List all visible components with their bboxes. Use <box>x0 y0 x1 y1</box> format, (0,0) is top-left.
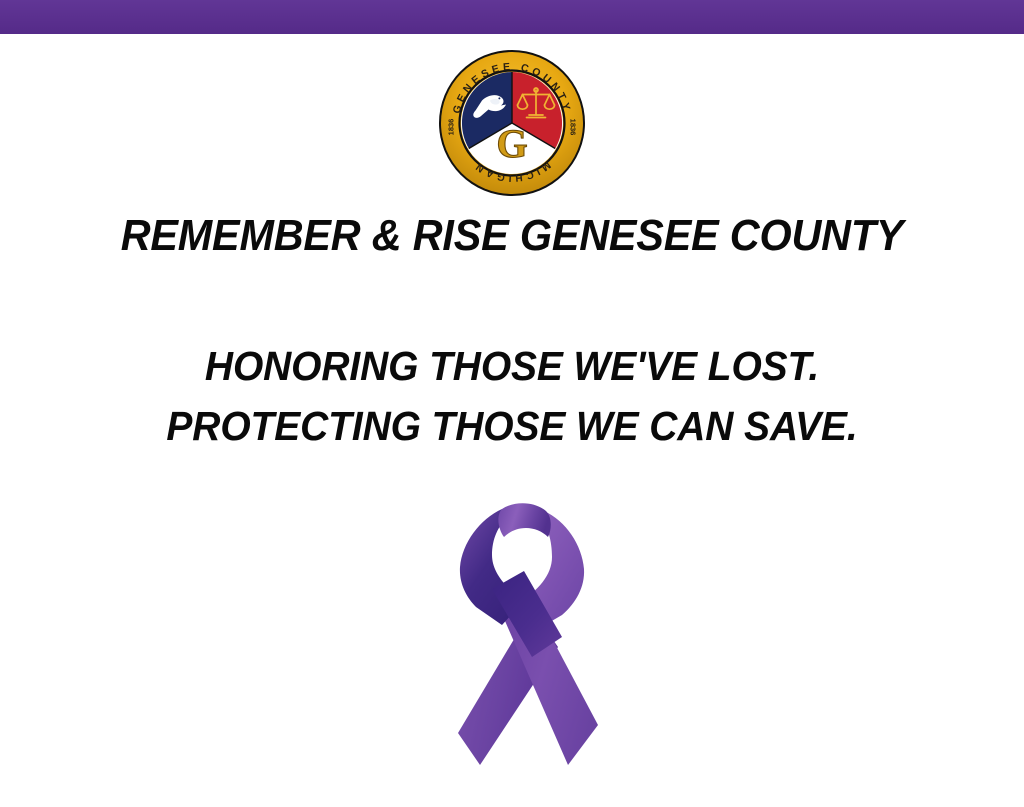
purple-awareness-ribbon <box>440 497 616 779</box>
genesee-county-seal: G GENESEE COUNTY MICHIGAN 1836 1836 <box>437 48 587 198</box>
seal-monogram-g: G <box>496 121 527 166</box>
poster-canvas: G GENESEE COUNTY MICHIGAN 1836 1836 REME… <box>0 0 1024 807</box>
seal-year-right: 1836 <box>569 119 578 136</box>
subtitle-line-1: HONORING THOSE WE'VE LOST. <box>26 345 999 388</box>
ribbon-loop-crown <box>498 503 550 537</box>
top-band-shading <box>0 0 1024 34</box>
top-purple-band <box>0 0 1024 34</box>
subtitle-line-2: PROTECTING THOSE WE CAN SAVE. <box>26 405 999 448</box>
seal-year-left: 1836 <box>447 119 456 136</box>
page-title: REMEMBER & RISE GENESEE COUNTY <box>31 213 994 260</box>
